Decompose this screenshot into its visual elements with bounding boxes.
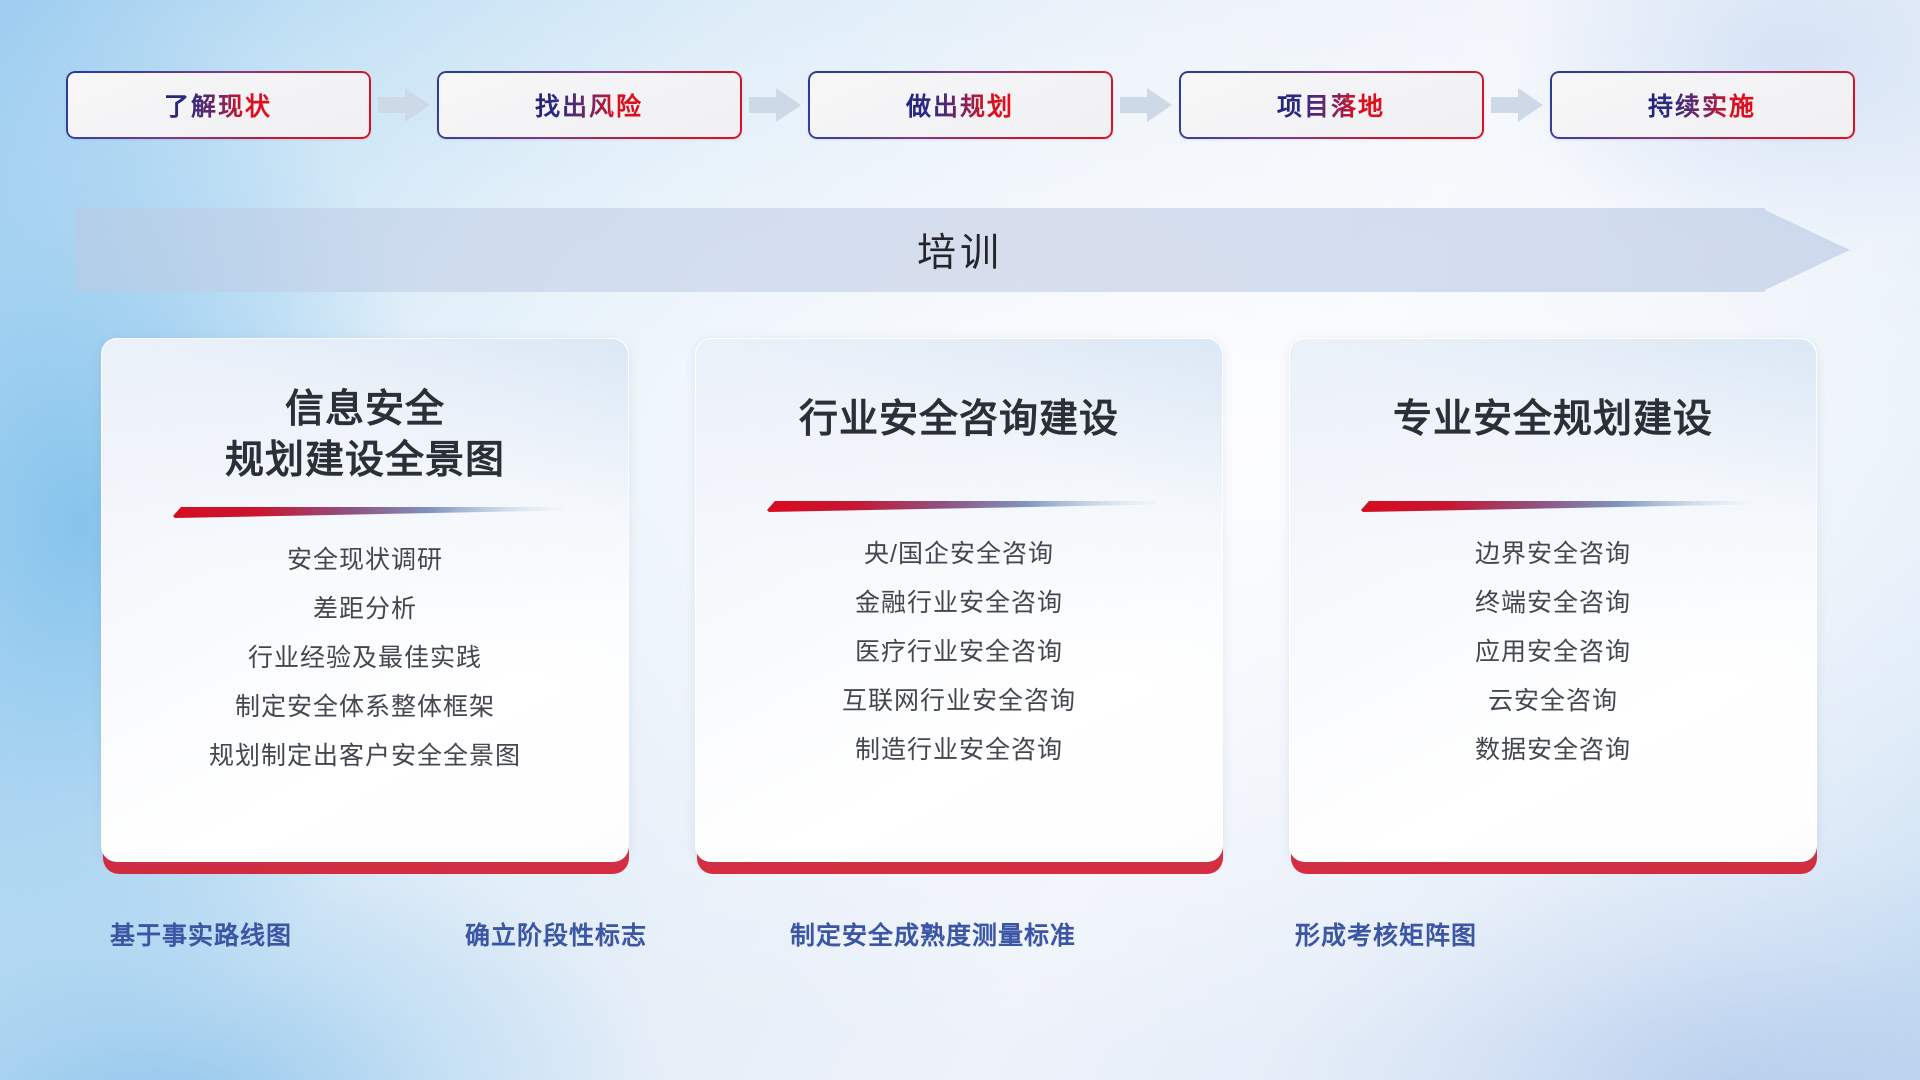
step-box-3[interactable]: 做出规划 [808, 71, 1113, 139]
bottom-label-4: 形成考核矩阵图 [1295, 916, 1477, 952]
bottom-label-1: 基于事实路线图 [110, 916, 292, 952]
card-3-title: 专业安全规划建设 [1393, 395, 1713, 446]
list-item: 安全现状调研 [209, 548, 521, 573]
step-label-1: 了解现状 [164, 87, 272, 123]
step-box-2[interactable]: 找出风险 [437, 71, 742, 139]
bottom-label-3: 制定安全成熟度测量标准 [790, 916, 1076, 952]
step-label-5: 持续实施 [1648, 87, 1756, 123]
gradient-divider-icon [1355, 498, 1751, 514]
list-item: 云安全咨询 [1475, 689, 1631, 714]
list-item: 医疗行业安全咨询 [842, 640, 1076, 665]
training-banner: 培训 [75, 208, 1850, 292]
gradient-divider-icon [167, 504, 563, 520]
card-2-title: 行业安全咨询建设 [799, 395, 1119, 446]
list-item: 金融行业安全咨询 [842, 591, 1076, 616]
card-row: 信息安全 规划建设全景图 [0, 338, 1920, 878]
list-item: 数据安全咨询 [1475, 738, 1631, 763]
arrow-right-icon [1491, 88, 1543, 122]
list-item: 制造行业安全咨询 [842, 738, 1076, 763]
step-label-4: 项目落地 [1277, 87, 1385, 123]
arrow-right-icon [749, 88, 801, 122]
card-3: 专业安全规划建设 [1289, 338, 1819, 872]
card-1-list: 安全现状调研 差距分析 行业经验及最佳实践 制定安全体系整体框架 规划制定出客户… [209, 548, 521, 769]
card-1: 信息安全 规划建设全景图 [101, 338, 631, 872]
banner-title: 培训 [75, 208, 1845, 292]
card-3-body[interactable]: 专业安全规划建设 [1289, 338, 1817, 862]
list-item: 规划制定出客户安全全景图 [209, 744, 521, 769]
card-2: 行业安全咨询建设 [695, 338, 1225, 872]
list-item: 互联网行业安全咨询 [842, 689, 1076, 714]
step-box-4[interactable]: 项目落地 [1179, 71, 1484, 139]
step-label-3: 做出规划 [906, 87, 1014, 123]
card-1-body[interactable]: 信息安全 规划建设全景图 [101, 338, 629, 862]
list-item: 制定安全体系整体框架 [209, 695, 521, 720]
process-step-row: 了解现状 找出风险 做出规划 项目落地 持续实施 [0, 62, 1920, 148]
card-2-list: 央/国企安全咨询 金融行业安全咨询 医疗行业安全咨询 互联网行业安全咨询 制造行… [842, 542, 1076, 763]
card-2-body[interactable]: 行业安全咨询建设 [695, 338, 1223, 862]
step-box-5[interactable]: 持续实施 [1550, 71, 1855, 139]
list-item: 行业经验及最佳实践 [209, 646, 521, 671]
arrow-right-icon [378, 88, 430, 122]
bottom-label-row: 基于事实路线图 确立阶段性标志 制定安全成熟度测量标准 形成考核矩阵图 [0, 916, 1920, 962]
gradient-divider-icon [761, 498, 1157, 514]
step-sequence: 了解现状 找出风险 做出规划 项目落地 持续实施 [66, 71, 1855, 139]
list-item: 边界安全咨询 [1475, 542, 1631, 567]
card-3-list: 边界安全咨询 终端安全咨询 应用安全咨询 云安全咨询 数据安全咨询 [1475, 542, 1631, 763]
list-item: 央/国企安全咨询 [842, 542, 1076, 567]
bottom-label-2: 确立阶段性标志 [465, 916, 647, 952]
step-label-2: 找出风险 [535, 87, 643, 123]
list-item: 终端安全咨询 [1475, 591, 1631, 616]
list-item: 差距分析 [209, 597, 521, 622]
step-box-1[interactable]: 了解现状 [66, 71, 371, 139]
list-item: 应用安全咨询 [1475, 640, 1631, 665]
card-1-title: 信息安全 规划建设全景图 [225, 385, 505, 486]
arrow-right-icon [1120, 88, 1172, 122]
